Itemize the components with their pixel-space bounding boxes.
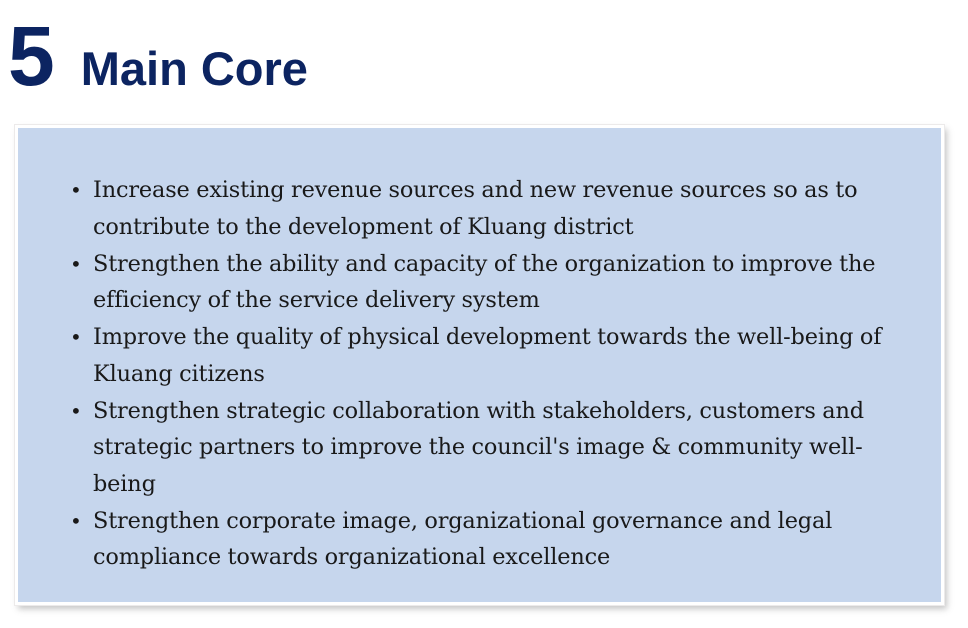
slide: 5 Main Core • Increase existing revenue … [0, 0, 968, 628]
list-item-text: Strengthen strategic collaboration with … [93, 398, 864, 497]
bullet-icon: • [70, 319, 82, 356]
bullet-list: • Increase existing revenue sources and … [48, 172, 911, 576]
list-item: • Strengthen strategic collaboration wit… [48, 393, 911, 503]
bullet-icon: • [70, 393, 82, 430]
list-item-text: Strengthen corporate image, organization… [93, 508, 832, 571]
list-item-text: Strengthen the ability and capacity of t… [93, 251, 875, 314]
bullet-icon: • [70, 172, 82, 209]
list-item: • Strengthen corporate image, organizati… [48, 503, 911, 576]
list-item-text: Increase existing revenue sources and ne… [93, 177, 857, 240]
list-item-text: Improve the quality of physical developm… [93, 324, 881, 387]
bullet-icon: • [70, 503, 82, 540]
list-item: • Improve the quality of physical develo… [48, 319, 911, 392]
slide-title-text: Main Core [81, 45, 308, 92]
list-item: • Strengthen the ability and capacity of… [48, 246, 911, 319]
content-panel: • Increase existing revenue sources and … [14, 124, 945, 606]
bullet-icon: • [70, 246, 82, 283]
content-panel-inner: • Increase existing revenue sources and … [18, 128, 941, 602]
list-item: • Increase existing revenue sources and … [48, 172, 911, 245]
page-title: 5 Main Core [8, 14, 308, 98]
slide-number: 5 [8, 14, 54, 98]
